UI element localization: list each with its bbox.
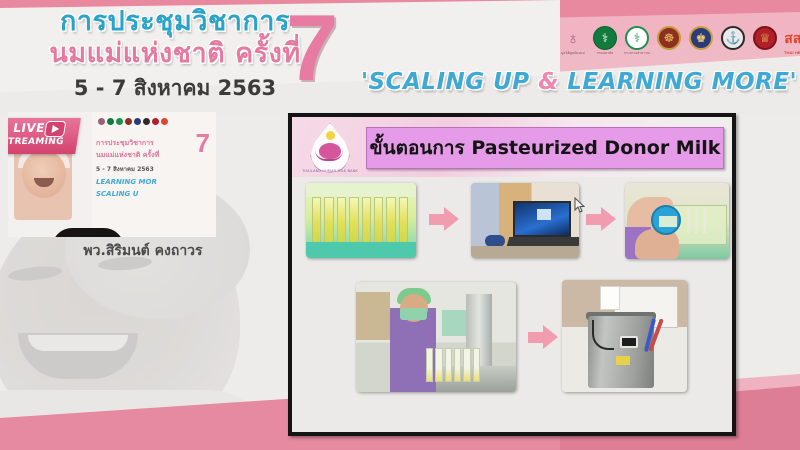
photo-laptop-workstation (471, 183, 579, 258)
mouse-cursor (574, 197, 585, 213)
sponsor-logo-department-health-icon: ⚕ กระทรวงสาธารณสุข (624, 26, 650, 55)
webcam-backdrop-poster: 7 การประชุมวิชาการ นมแม่แห่งชาติ ครั้งที… (92, 112, 216, 237)
arrow-step1-to-step2-icon (429, 207, 459, 231)
sponsor-logo-ministry-public-health-icon: ⚕ กรมอนามัย (592, 26, 618, 55)
sponsor-mark-1: ♁ (561, 26, 585, 50)
poster-line1: การประชุมวิชาการ (96, 138, 154, 149)
conference-title: การประชุมวิชาการ นมแม่แห่งชาติ ครั้งที่ (30, 6, 320, 70)
milk-bank-logo-caption: THAILAND HUMAN MILK BANK (302, 169, 358, 173)
photo-hand-holding-timer (625, 183, 729, 259)
sponsor-mark-3: ⚕ (625, 26, 649, 50)
sponsor-mark-6: ⚓ (721, 26, 745, 50)
human-milk-bank-logo-icon: THAILAND HUMAN MILK BANK (302, 121, 358, 179)
webcam-speaker-figure (36, 224, 142, 237)
sponsor-mark-8: สสส (785, 26, 800, 50)
arrow-step2-to-step3-icon (586, 207, 616, 231)
sponsor-logo-ministry-emblem-icon: ⚓ (720, 26, 746, 50)
conference-title-line2: นมแม่แห่งชาติ ครั้งที่ (30, 38, 320, 70)
conference-dates: 5 - 7 สิงหาคม 2563 (30, 72, 320, 105)
sponsor-logo-thaihealth-icon: สสส THAI HEALTH (784, 26, 800, 55)
poster-line3: 5 - 7 สิงหาคม 2563 (96, 164, 154, 174)
sponsor-mark-7: ♕ (753, 26, 777, 50)
conference-title-line1: การประชุมวิชาการ (30, 6, 320, 38)
photo-pasteurizer-machine (562, 280, 687, 392)
webcam-video-inset[interactable]: 7 การประชุมวิชาการ นมแม่แห่งชาติ ครั้งที… (8, 112, 216, 237)
photo-milk-bottle-racks (306, 183, 416, 258)
poster-edition-number: 7 (196, 130, 210, 156)
sponsor-mark-2: ⚕ (593, 26, 617, 50)
sponsor-logo-row: ♁ มูลนิธิศูนย์นมแม่ ⚕ กรมอนามัย ⚕ กระทรว… (560, 26, 800, 55)
sponsor-logo-royal-college-icon: ♕ (752, 26, 778, 50)
tagline-part2: LEARNING MORE' (559, 69, 797, 95)
poster-line4: LEARNING MOR (96, 178, 157, 186)
play-triangle-icon (44, 121, 67, 137)
sponsor-mark-4: ☸ (657, 26, 681, 50)
slide-title-box: ขั้นตอนการ Pasteurized Donor Milk (366, 127, 724, 169)
photo-nurse-loading-bottles (356, 282, 516, 392)
speaker-name-label: พว.สิริมนต์ คงถาวร (28, 240, 258, 262)
poster-line2: นมแม่แห่งชาติ ครั้งที่ (96, 150, 159, 161)
sponsor-caption-3: กระทรวงสาธารณสุข (624, 51, 650, 55)
presentation-slide-panel[interactable]: THAILAND HUMAN MILK BANK ขั้นตอนการ Past… (288, 113, 736, 436)
sponsor-caption-1: มูลนิธิศูนย์นมแม่ (560, 51, 586, 55)
edition-number: 7 (286, 1, 338, 95)
sponsor-logo-royal-patronage-icon: ♁ มูลนิธิศูนย์นมแม่ (560, 26, 586, 55)
poster-logo-row-icon (98, 118, 168, 125)
tagline-ampersand: & (538, 69, 559, 95)
slide-title-text: ขั้นตอนการ Pasteurized Donor Milk (370, 133, 721, 163)
slide-screenshot: การประชุมวิชาการ นมแม่แห่งชาติ ครั้งที่ … (0, 0, 800, 450)
sponsor-logo-university-emblem-icon: ♚ (688, 26, 714, 50)
sponsor-mark-5: ♚ (689, 26, 713, 50)
sponsor-caption-8: THAI HEALTH (784, 51, 800, 55)
conference-tagline: 'SCALING UP & LEARNING MORE' (358, 69, 800, 95)
tagline-part1: 'SCALING UP (361, 69, 538, 95)
sponsor-caption-2: กรมอนามัย (592, 51, 618, 55)
arrow-step4-to-step5-icon (528, 325, 558, 349)
poster-line5: SCALING U (96, 190, 138, 198)
sponsor-logo-thai-red-cross-icon: ☸ (656, 26, 682, 50)
live-badge-line2: STREAMING (8, 137, 64, 147)
live-streaming-badge: LIVE STREAMING (8, 118, 81, 154)
live-badge-line1: LIVE (12, 121, 46, 135)
